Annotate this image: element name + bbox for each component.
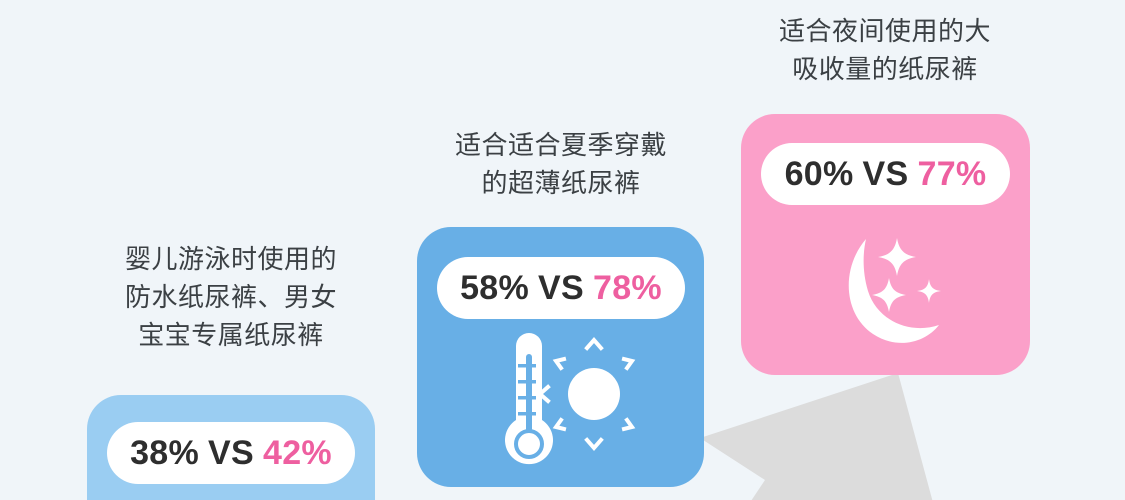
stat-value-b-night: 77% — [917, 155, 986, 194]
thermometer-sun-icon — [485, 332, 637, 477]
stat-vs-summer: VS — [538, 269, 584, 308]
stat-pill-night: 60% VS 77% — [761, 143, 1010, 205]
stat-pill-swim: 38% VS 42% — [107, 422, 355, 484]
stat-value-a-night: 60% — [785, 155, 854, 194]
stat-value-a-swim: 38% — [130, 434, 199, 473]
stat-value-b-swim: 42% — [263, 434, 332, 473]
gray-arrow-icon — [690, 360, 940, 500]
stat-value-a-summer: 58% — [460, 269, 529, 308]
caption-swim: 婴儿游泳时使用的 防水纸尿裤、男女 宝宝专属纸尿裤 — [77, 240, 385, 354]
moon-stars-icon — [835, 226, 965, 361]
caption-night: 适合夜间使用的大 吸收量的纸尿裤 — [731, 12, 1039, 88]
caption-summer: 适合适合夏季穿戴 的超薄纸尿裤 — [407, 126, 715, 202]
stat-pill-summer: 58% VS 78% — [437, 257, 685, 319]
stat-vs-swim: VS — [208, 434, 254, 473]
stat-value-b-summer: 78% — [593, 269, 662, 308]
infographic-canvas: 婴儿游泳时使用的 防水纸尿裤、男女 宝宝专属纸尿裤 38% VS 42% 适合适… — [0, 0, 1125, 500]
stat-vs-night: VS — [863, 155, 909, 194]
